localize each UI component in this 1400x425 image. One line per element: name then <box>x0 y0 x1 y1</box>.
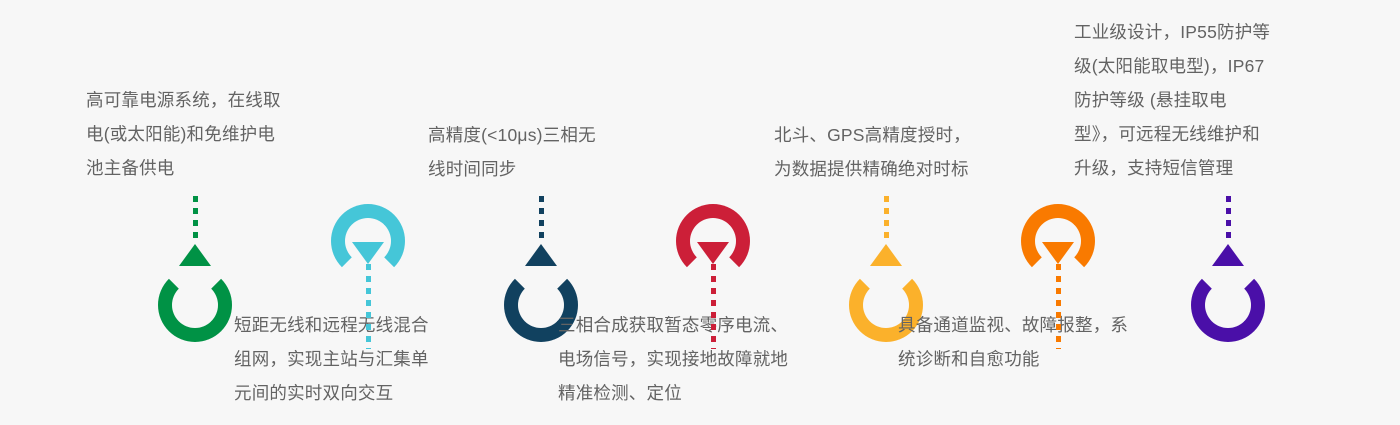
feature-infographic: 高可靠电源系统，在线取 电(或太阳能)和免维护电 池主备供电短距无线和远程无线混… <box>0 0 1400 425</box>
arc-down-marker-icon <box>653 204 773 349</box>
arc-up-marker-icon <box>1168 196 1288 342</box>
marker-tail-group <box>352 242 384 349</box>
dotted-connector-line <box>1056 264 1061 349</box>
dotted-connector-line <box>193 196 198 244</box>
arc-down-marker-icon <box>998 204 1118 349</box>
triangle-marker-up-icon <box>1212 244 1244 266</box>
feature-caption-satellite-timing: 北斗、GPS高精度授时， 为数据提供精确绝对时标 <box>774 118 1034 186</box>
marker-tail-group <box>1042 242 1074 349</box>
triangle-marker-up-icon <box>525 244 557 266</box>
triangle-marker-up-icon <box>870 244 902 266</box>
feature-caption-industrial-design: 工业级设计，IP55防护等 级(太阳能取电型)，IP67 防护等级 (悬挂取电 … <box>1074 15 1319 185</box>
triangle-marker-down-icon <box>1042 242 1074 264</box>
dotted-connector-line <box>711 264 716 349</box>
marker-tail-group <box>697 242 729 349</box>
arc-ring-icon <box>158 268 232 342</box>
dotted-connector-line <box>539 196 544 244</box>
dotted-connector-line <box>366 264 371 349</box>
triangle-marker-up-icon <box>179 244 211 266</box>
arc-down-marker-icon <box>308 204 428 349</box>
dotted-connector-line <box>884 196 889 244</box>
feature-caption-time-synchronization: 高精度(<10μs)三相无 线时间同步 <box>428 118 643 186</box>
feature-caption-power-supply: 高可靠电源系统，在线取 电(或太阳能)和免维护电 池主备供电 <box>86 83 336 185</box>
triangle-marker-down-icon <box>697 242 729 264</box>
dotted-connector-line <box>1226 196 1231 244</box>
triangle-marker-down-icon <box>352 242 384 264</box>
arc-ring-icon <box>1191 268 1265 342</box>
